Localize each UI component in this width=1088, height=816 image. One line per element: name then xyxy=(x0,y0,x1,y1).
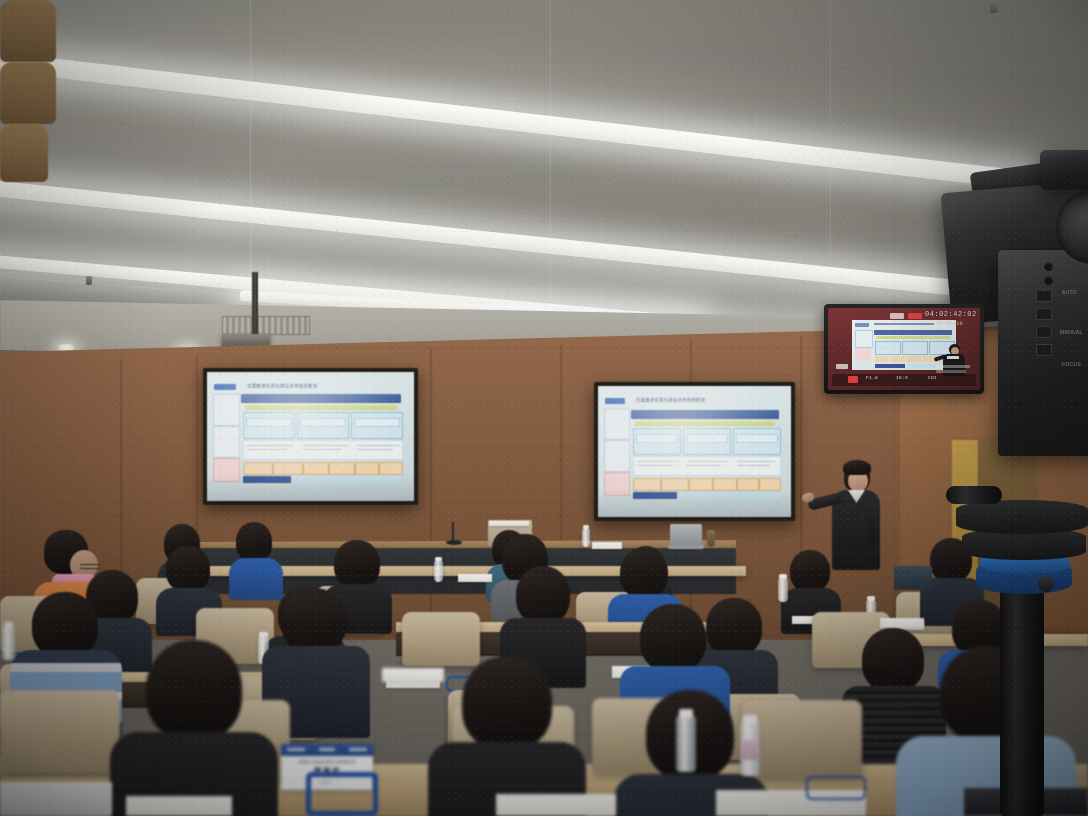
paper-document xyxy=(880,618,924,628)
paper-document xyxy=(126,796,232,816)
tripod-pan-handle[interactable] xyxy=(946,486,1002,504)
placard-header-band xyxy=(281,744,373,756)
tripod-plate xyxy=(956,500,1088,534)
side-chair[interactable] xyxy=(0,124,48,182)
paper-document xyxy=(592,542,622,549)
camera-switch[interactable] xyxy=(1036,290,1052,302)
camera-label-focus: FOCUS xyxy=(1062,362,1081,368)
water-bottle xyxy=(434,560,443,582)
viewfinder-status-channel: CH1 xyxy=(928,376,937,381)
paper-document xyxy=(458,574,492,582)
rec-dot xyxy=(848,376,858,383)
microphone-base xyxy=(446,540,462,545)
laptop[interactable] xyxy=(668,524,704,548)
right-projection-screen: 全面推进信息化建设总体规划框架 xyxy=(594,382,795,521)
viewfinder-timecode: 04:02:42:02 xyxy=(925,311,977,319)
lanyard xyxy=(806,776,866,800)
thermos-cup xyxy=(707,530,715,547)
camera-switch[interactable] xyxy=(1036,326,1052,338)
water-bottle xyxy=(740,722,760,776)
water-bottle xyxy=(676,716,696,772)
viewfinder-overlay-bar xyxy=(936,370,966,373)
side-chair[interactable] xyxy=(0,0,56,62)
slide-title: 全面推进信息化建设总体规划框架 xyxy=(636,397,705,404)
water-bottle xyxy=(778,578,788,602)
tripod-lock-knob[interactable] xyxy=(1038,576,1054,592)
slide-title: 全面推进信息化建设总体规划框架 xyxy=(247,383,318,390)
viewfinder-secondary-time: 00:00:16 xyxy=(936,321,963,327)
air-vent xyxy=(222,316,310,335)
conference-room-photo: 全面推进信息化建设总体规划框架 xyxy=(0,0,1088,816)
camera-switch[interactable] xyxy=(1036,308,1052,320)
rec-indicator xyxy=(908,313,922,319)
paper-document xyxy=(496,794,616,816)
camera-viewfinder[interactable]: 04:02:42:02 00:00:16 F1.8 16:9 CH1 xyxy=(824,304,984,394)
water-bottle xyxy=(2,626,15,660)
camera-button[interactable] xyxy=(1044,262,1053,271)
fire-sprinkler xyxy=(86,276,92,285)
placard-event-line: 全国第二届信息化建设与管理培训班 xyxy=(281,759,373,764)
fire-sprinkler xyxy=(990,0,997,13)
paper-document xyxy=(382,668,444,682)
lanyard xyxy=(306,772,378,816)
chair[interactable] xyxy=(0,690,120,772)
notebook xyxy=(0,782,112,816)
viewfinder-chip xyxy=(890,313,904,319)
camera-microphone-mount xyxy=(1040,150,1088,190)
tripod-column[interactable] xyxy=(1000,560,1044,816)
glasses xyxy=(80,564,100,569)
camera-label-manual: MANUAL xyxy=(1060,330,1083,336)
chair[interactable] xyxy=(402,612,480,666)
left-projection-screen: 全面推进信息化建设总体规划框架 xyxy=(203,368,418,505)
viewfinder-slide-preview xyxy=(852,320,956,370)
viewfinder-status-aspect: 16:9 xyxy=(896,376,908,381)
projector-mount-pole xyxy=(252,272,258,336)
laptop[interactable] xyxy=(892,566,934,592)
side-chair[interactable] xyxy=(0,62,56,124)
viewfinder-chip xyxy=(836,364,848,369)
chair[interactable] xyxy=(742,700,862,778)
ceiling xyxy=(0,0,1088,330)
camera-label-auto: AUTO xyxy=(1062,290,1077,296)
water-bottle xyxy=(582,528,590,547)
paper-document xyxy=(489,521,529,526)
viewfinder-status-aperture: F1.8 xyxy=(866,376,878,381)
viewfinder-overlay-bar xyxy=(936,365,970,368)
camera-button[interactable] xyxy=(1044,276,1053,285)
camera-switch[interactable] xyxy=(1036,344,1052,356)
